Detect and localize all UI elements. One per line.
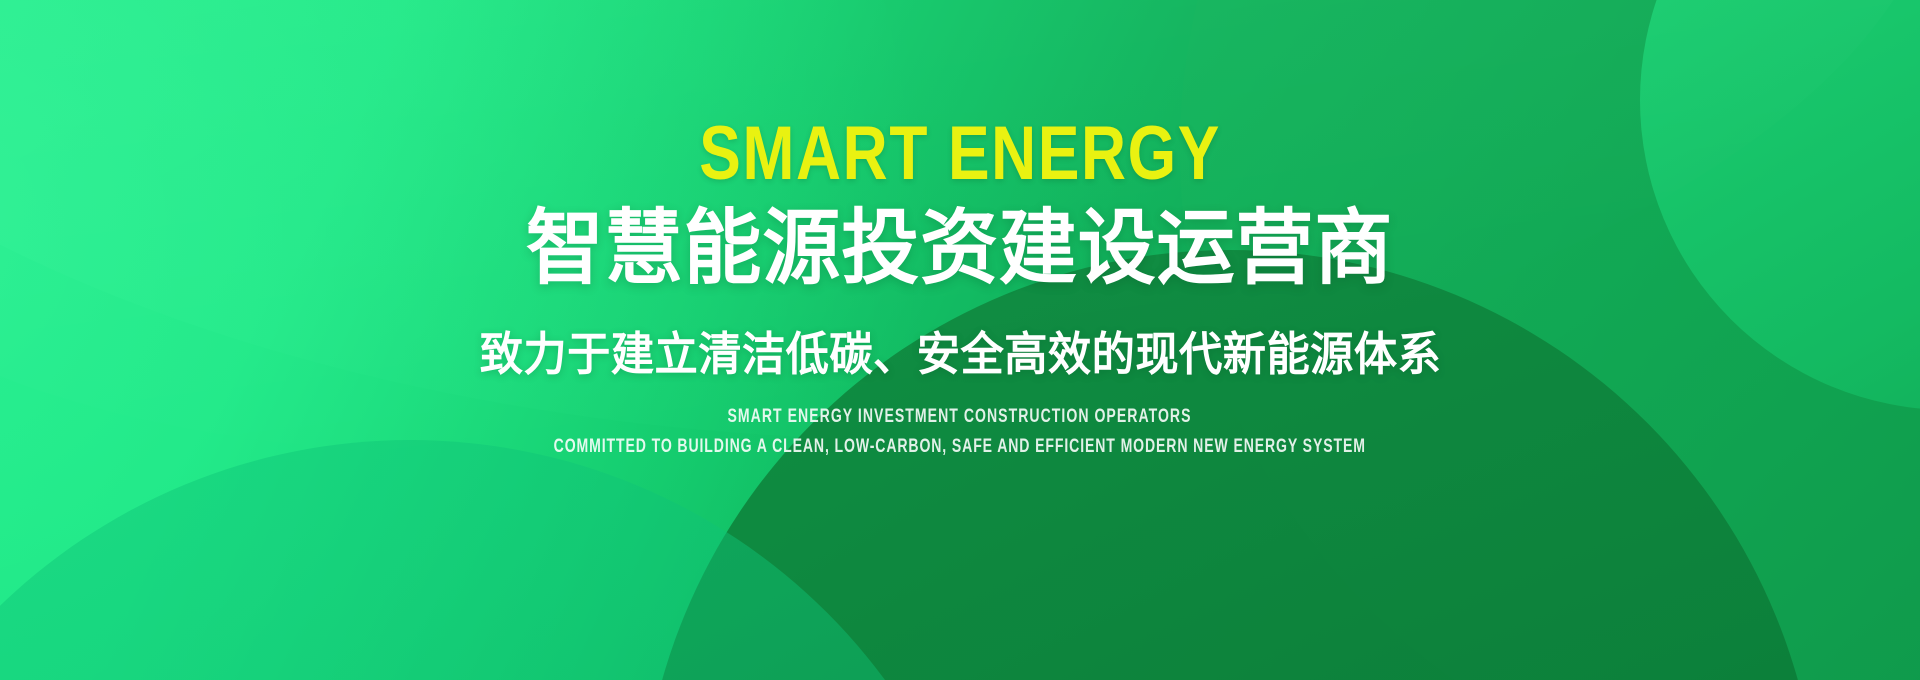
banner-english-caption-group: SMART ENERGY INVESTMENT CONSTRUCTION OPE… (411, 406, 1509, 458)
banner-subtitle-chinese: 致力于建立清洁低碳、安全高效的现代新能源体系 (479, 327, 1441, 382)
banner-title-english: SMART ENERGY (699, 116, 1221, 192)
smart-energy-hero-banner: SMART ENERGY 智慧能源投资建设运营商 致力于建立清洁低碳、安全高效的… (0, 0, 1920, 680)
banner-content: SMART ENERGY 智慧能源投资建设运营商 致力于建立清洁低碳、安全高效的… (0, 0, 1920, 680)
banner-caption-english-line-2: COMMITTED TO BUILDING A CLEAN, LOW-CARBO… (554, 436, 1366, 458)
banner-caption-english-line-1: SMART ENERGY INVESTMENT CONSTRUCTION OPE… (728, 406, 1192, 428)
banner-title-chinese: 智慧能源投资建设运营商 (526, 206, 1393, 293)
